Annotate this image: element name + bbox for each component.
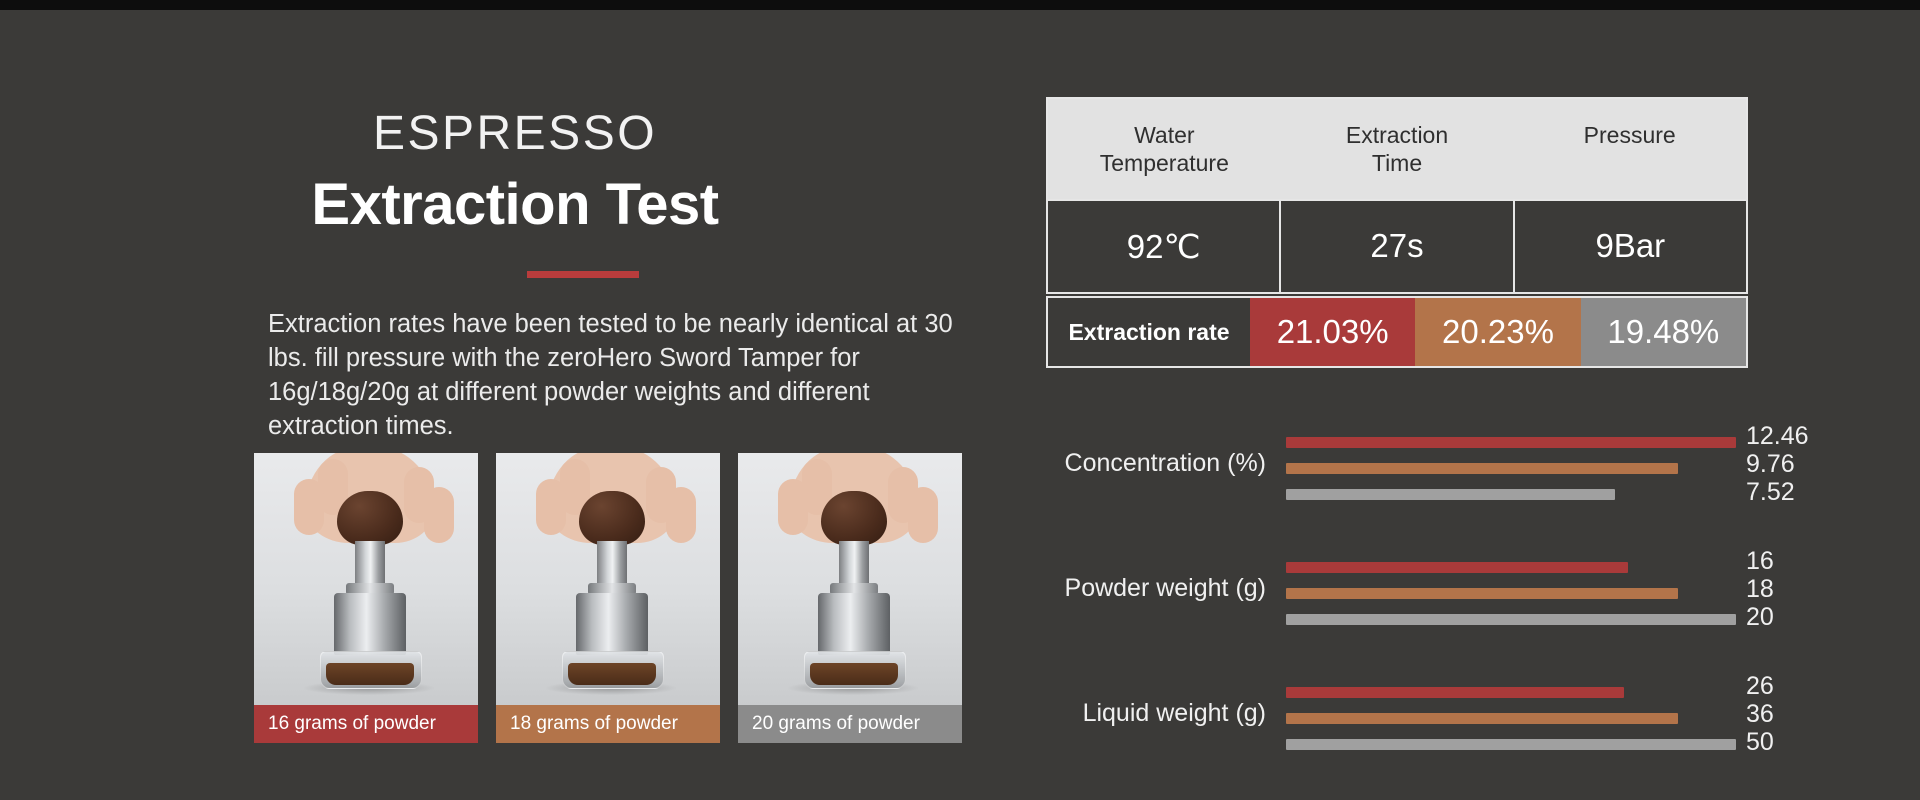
header-water-temperature: Water Temperature xyxy=(1048,99,1281,199)
bar xyxy=(1286,614,1736,625)
tamper-photo xyxy=(738,453,962,705)
parameters-value-row: 92℃ 27s 9Bar xyxy=(1048,199,1746,292)
bar-value: 26 xyxy=(1746,674,1774,699)
bar-value: 20 xyxy=(1746,605,1774,630)
extraction-rate-value-18g: 20.23% xyxy=(1415,298,1580,366)
photo-caption: 20 grams of powder xyxy=(738,705,962,743)
header-extraction-time: Extraction Time xyxy=(1281,99,1514,199)
accent-divider xyxy=(527,271,639,278)
bar-group-values: 26 36 50 xyxy=(1746,665,1866,761)
header-line-1: Water xyxy=(1134,122,1195,148)
parameters-table: Water Temperature Extraction Time Pressu… xyxy=(1046,97,1748,294)
poster-stage: ESPRESSO Extraction Test Extraction rate… xyxy=(0,10,1920,800)
photo-caption: 16 grams of powder xyxy=(254,705,478,743)
extraction-rate-value-20g: 19.48% xyxy=(1581,298,1746,366)
bar-group-label: Concentration (%) xyxy=(1046,415,1266,511)
bar-group-bars xyxy=(1286,665,1736,761)
photo-card[interactable]: 16 grams of powder xyxy=(254,453,478,743)
eyebrow-text: ESPRESSO xyxy=(0,110,1030,158)
header-line-2: Temperature xyxy=(1100,150,1229,176)
bar xyxy=(1286,437,1736,448)
bar-chart-area: Concentration (%) 12.46 9.76 7.52 Powder… xyxy=(1046,415,1906,765)
bar-value: 9.76 xyxy=(1746,452,1795,477)
bar-value: 12.46 xyxy=(1746,424,1809,449)
photo-card-list: 16 grams of powder 18 grams of powder xyxy=(254,453,964,743)
bar xyxy=(1286,739,1736,750)
finger-shape xyxy=(536,479,566,535)
bar-value: 18 xyxy=(1746,577,1774,602)
bar-value: 50 xyxy=(1746,730,1774,755)
header-pressure: Pressure xyxy=(1513,99,1746,199)
bar xyxy=(1286,562,1628,573)
bar xyxy=(1286,588,1678,599)
bar-group-label: Liquid weight (g) xyxy=(1046,665,1266,761)
bar xyxy=(1286,489,1615,500)
photo-card[interactable]: 18 grams of powder xyxy=(496,453,720,743)
description-paragraph: Extraction rates have been tested to be … xyxy=(268,308,958,444)
value-water-temperature: 92℃ xyxy=(1048,201,1279,292)
right-panel: Water Temperature Extraction Time Pressu… xyxy=(1030,10,1920,800)
bar xyxy=(1286,463,1678,474)
bar-group-bars xyxy=(1286,540,1736,636)
extraction-rate-label: Extraction rate xyxy=(1048,298,1250,366)
extraction-rate-row: Extraction rate 21.03% 20.23% 19.48% xyxy=(1046,296,1748,368)
header-line-2: Time xyxy=(1372,150,1422,176)
bar-group-values: 16 18 20 xyxy=(1746,540,1866,636)
header-line-1: Extraction xyxy=(1346,122,1448,148)
header-line-1: Pressure xyxy=(1584,122,1676,148)
photo-caption: 18 grams of powder xyxy=(496,705,720,743)
bar-group-values: 12.46 9.76 7.52 xyxy=(1746,415,1866,511)
finger-shape xyxy=(888,467,918,523)
bar-value: 7.52 xyxy=(1746,480,1795,505)
parameters-header-row: Water Temperature Extraction Time Pressu… xyxy=(1048,99,1746,199)
bar xyxy=(1286,687,1624,698)
finger-shape xyxy=(778,479,808,535)
value-pressure: 9Bar xyxy=(1513,201,1746,292)
extraction-rate-value-16g: 21.03% xyxy=(1250,298,1415,366)
bar-group-powder-weight: Powder weight (g) 16 18 20 xyxy=(1046,540,1906,636)
tamper-photo xyxy=(254,453,478,705)
photo-card[interactable]: 20 grams of powder xyxy=(738,453,962,743)
bar-value: 16 xyxy=(1746,549,1774,574)
bar-group-label: Powder weight (g) xyxy=(1046,540,1266,636)
tamper-photo xyxy=(496,453,720,705)
bar-group-liquid-weight: Liquid weight (g) 26 36 50 xyxy=(1046,665,1906,761)
left-panel: ESPRESSO Extraction Test Extraction rate… xyxy=(0,10,1030,800)
value-extraction-time: 27s xyxy=(1279,201,1512,292)
bar xyxy=(1286,713,1678,724)
top-black-bar xyxy=(0,0,1920,10)
page-title: Extraction Test xyxy=(0,175,1030,236)
bar-value: 36 xyxy=(1746,702,1774,727)
bar-group-concentration: Concentration (%) 12.46 9.76 7.52 xyxy=(1046,415,1906,511)
finger-shape xyxy=(646,467,676,523)
bar-group-bars xyxy=(1286,415,1736,511)
finger-shape xyxy=(404,467,434,523)
finger-shape xyxy=(294,479,324,535)
